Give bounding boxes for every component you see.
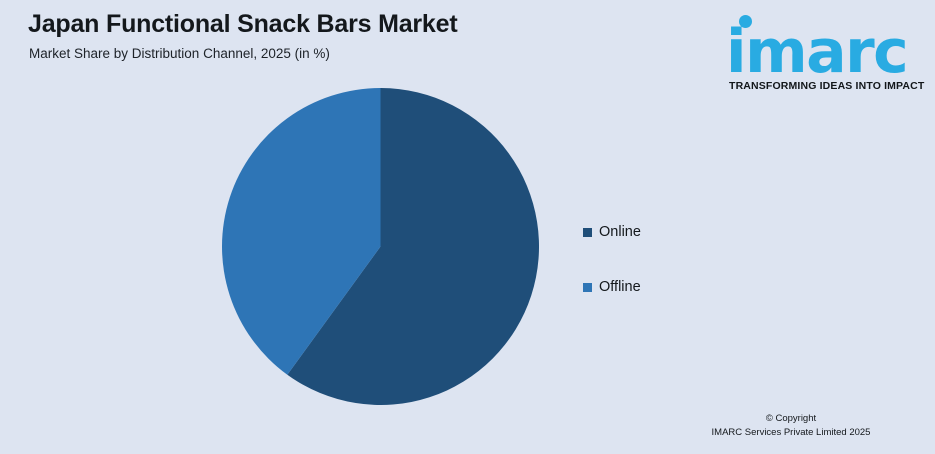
- logo-tagline: TRANSFORMING IDEAS INTO IMPACT: [729, 80, 924, 92]
- legend-swatch-online: [583, 228, 592, 237]
- legend-item-online[interactable]: Online: [583, 222, 733, 242]
- legend-label-online: Online: [599, 224, 641, 240]
- copyright-line: © Copyright: [661, 412, 921, 426]
- legend-label-offline: Offline: [599, 279, 641, 295]
- imarc-logo: imarc TRANSFORMING IDEAS INTO IMPACT: [726, 8, 922, 88]
- company-line: IMARC Services Private Limited 2025: [661, 426, 921, 440]
- legend-swatch-offline: [583, 283, 592, 292]
- chart-legend: Online Offline: [583, 222, 733, 332]
- chart-subtitle: Market Share by Distribution Channel, 20…: [29, 46, 330, 61]
- logo-wordmark: imarc: [726, 22, 907, 82]
- footer-copyright: © Copyright IMARC Services Private Limit…: [661, 412, 921, 440]
- pie-chart: [222, 88, 539, 405]
- legend-item-offline[interactable]: Offline: [583, 277, 733, 297]
- page-title: Japan Functional Snack Bars Market: [28, 10, 457, 39]
- pie-chart-svg: [222, 88, 539, 405]
- chart-canvas: Japan Functional Snack Bars Market Marke…: [0, 0, 935, 454]
